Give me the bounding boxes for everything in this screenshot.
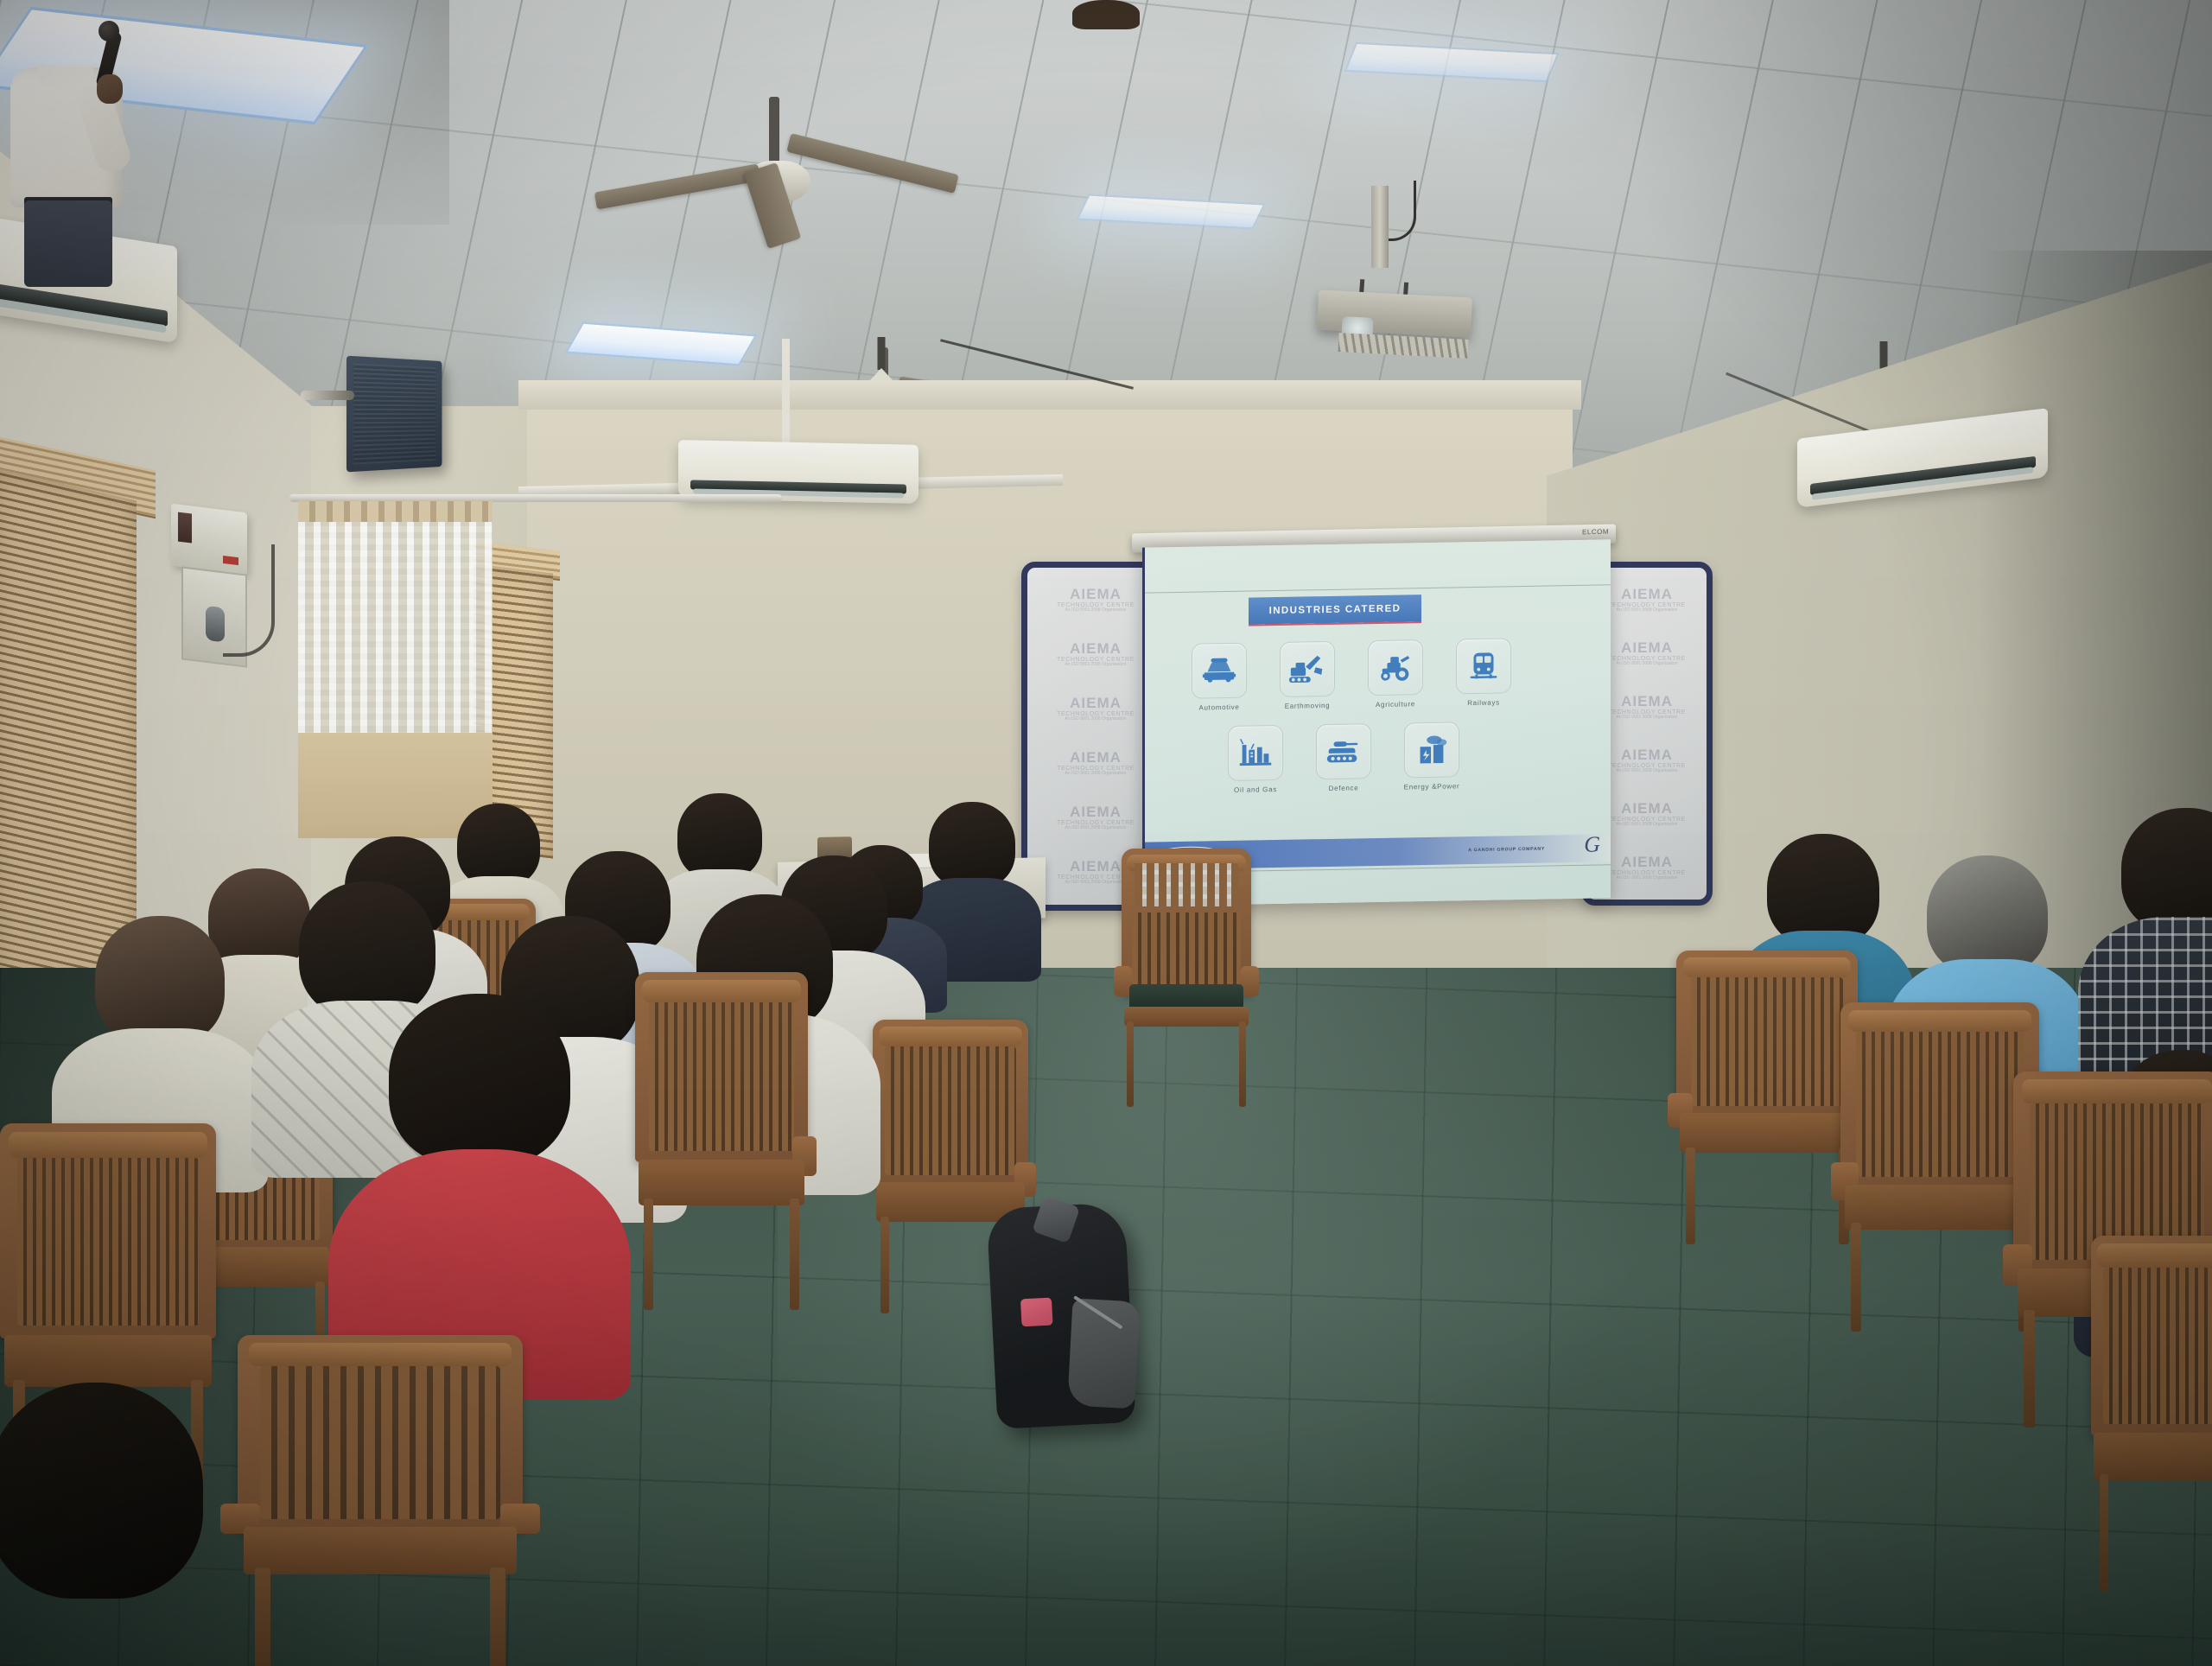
room-photo-scene: AIEMA TECHNOLOGY CENTRE An ISO 9001:2008… — [0, 0, 2212, 1666]
chair-back — [1122, 849, 1251, 994]
screen-brand-label: ELCOM — [1582, 528, 1609, 537]
industry-cell: Defence — [1313, 723, 1375, 793]
empty-chair[interactable] — [1122, 849, 1251, 1099]
chair-back — [2091, 1236, 2212, 1436]
chair-leg — [644, 1199, 653, 1310]
chair-top-rail — [9, 1132, 207, 1158]
chair-back — [635, 972, 808, 1162]
industry-label: Railways — [1452, 698, 1515, 708]
audience-member — [82, 916, 238, 1158]
tank-icon — [1316, 723, 1371, 779]
chair-back — [0, 1123, 216, 1339]
industry-cell: Agriculture — [1364, 639, 1427, 709]
projector-body — [1317, 289, 1472, 337]
projector-pole-mount — [1371, 186, 1389, 268]
chair-seat — [244, 1527, 518, 1574]
industry-cell: Oil and Gas — [1224, 725, 1287, 795]
chair-leg — [1851, 1223, 1862, 1332]
chair-back — [1676, 951, 1858, 1116]
chair-top-rail — [249, 1343, 512, 1366]
presenter-hand — [97, 74, 123, 104]
industry-label: Earthmoving — [1276, 702, 1338, 711]
excavator-icon — [1280, 641, 1335, 697]
speaker-grille — [353, 363, 435, 464]
chair-slats — [649, 1002, 794, 1151]
industry-cell: Energy &Power — [1401, 722, 1463, 792]
curtain-pleats — [298, 501, 493, 522]
hanging-cable — [223, 544, 275, 657]
chair-top-rail — [642, 980, 801, 1002]
curtain-sheer-panel — [298, 506, 493, 738]
chair-lattice — [1135, 863, 1238, 906]
audience-member — [2108, 808, 2212, 1067]
chair-top-rail — [1683, 957, 1850, 977]
chair-back — [1840, 1002, 2039, 1188]
oil-refinery-icon — [1228, 725, 1283, 781]
chair-back — [873, 1020, 1028, 1185]
presenter-collar — [38, 66, 93, 88]
chair-slats — [1691, 977, 1843, 1106]
chair-slats — [1856, 1032, 2023, 1176]
chair-leg — [1127, 1021, 1134, 1107]
chair-top-rail — [2022, 1079, 2212, 1103]
industry-label: Agriculture — [1364, 700, 1427, 709]
chair-top-rail — [879, 1027, 1022, 1046]
presenter-hair — [1072, 0, 1140, 29]
gandhi-group-logo: G — [1584, 831, 1600, 857]
group-company-note: A GANDHI GROUP COMPANY — [1468, 847, 1545, 854]
tractor-icon — [1368, 639, 1423, 696]
industry-cell: Automotive — [1188, 643, 1250, 713]
chair-seat — [4, 1335, 212, 1387]
ceiling-fan — [605, 121, 950, 233]
chair-slats — [17, 1158, 199, 1326]
microphone-head — [99, 21, 119, 41]
chair-top-rail — [1848, 1010, 2031, 1033]
chair-seat — [639, 1160, 804, 1205]
audience-chair[interactable] — [635, 972, 808, 1300]
audience-member-foreground — [0, 1383, 207, 1666]
car-icon — [1192, 643, 1247, 699]
speaker-bracket — [301, 391, 354, 400]
audience-chair[interactable] — [2091, 1236, 2212, 1581]
ceiling-projector — [1318, 220, 1482, 324]
chair-leg — [1686, 1148, 1696, 1244]
backpack[interactable] — [986, 1202, 1135, 1429]
industry-icon-grid: Automotive — [1179, 637, 1586, 796]
chair-back — [238, 1335, 523, 1530]
chair-leg — [790, 1199, 799, 1310]
chair-leg — [880, 1217, 889, 1313]
presenter-trousers — [24, 200, 112, 287]
chair-slats — [885, 1046, 1015, 1175]
industry-label: Energy &Power — [1401, 782, 1463, 792]
foreground-chair[interactable] — [238, 1335, 523, 1666]
chair-top-rail — [2097, 1243, 2212, 1268]
wall-speaker — [346, 356, 442, 473]
chair-leg — [490, 1567, 505, 1666]
industry-label: Defence — [1313, 784, 1375, 793]
chair-slats — [260, 1366, 499, 1518]
industry-cell: Railways — [1452, 638, 1515, 708]
window-curtain — [298, 501, 493, 847]
industry-cell: Earthmoving — [1276, 641, 1338, 711]
chair-leg — [1239, 1021, 1246, 1107]
chair-slats — [1132, 912, 1241, 985]
chair-seat — [2094, 1433, 2212, 1481]
audience-member-red-shirt — [380, 994, 579, 1357]
chair-arm — [1241, 966, 1259, 996]
chair-seat — [1124, 1007, 1249, 1027]
ceiling-soffit — [518, 380, 1581, 410]
power-plant-icon — [1404, 722, 1459, 778]
chair-leg — [2024, 1310, 2035, 1428]
mounted-microphone — [206, 606, 225, 643]
chair-leg — [2100, 1474, 2107, 1592]
slide-title: INDUSTRIES CATERED — [1249, 595, 1421, 624]
backpack-side-item — [1020, 1298, 1053, 1327]
industry-label: Oil and Gas — [1224, 785, 1287, 795]
breaker-switch — [178, 512, 192, 544]
chair-leg — [255, 1567, 270, 1666]
chair-seat — [1680, 1113, 1854, 1153]
chair-slats — [2103, 1268, 2212, 1424]
train-icon — [1456, 638, 1511, 694]
chair-seat — [1845, 1185, 2036, 1230]
industry-label: Automotive — [1188, 703, 1250, 713]
